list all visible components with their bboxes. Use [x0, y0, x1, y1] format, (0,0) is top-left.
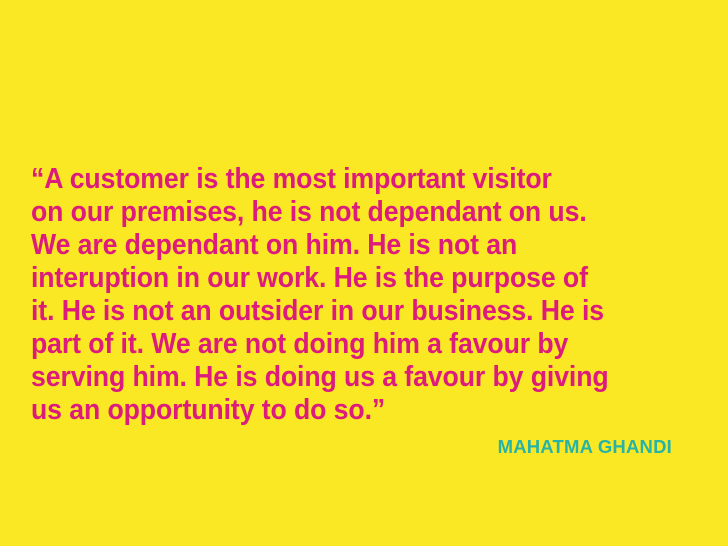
- quote-line: part of it. We are not doing him a favou…: [31, 328, 648, 361]
- quote-slide: “A customer is the most important visito…: [0, 0, 728, 546]
- quote-line: interuption in our work. He is the purpo…: [31, 262, 648, 295]
- quote-line: “A customer is the most important visito…: [31, 163, 648, 196]
- quote-line: us an opportunity to do so.”: [31, 394, 648, 427]
- quote-text-block: “A customer is the most important visito…: [31, 163, 691, 427]
- author-name: MAHATMA GHANDI: [498, 436, 672, 458]
- quote-line: We are dependant on him. He is not an: [31, 229, 648, 262]
- quote-line: on our premises, he is not dependant on …: [31, 196, 648, 229]
- quote-line: it. He is not an outsider in our busines…: [31, 295, 648, 328]
- quote-line: serving him. He is doing us a favour by …: [31, 361, 648, 394]
- quote-attribution: MAHATMA GHANDI: [31, 436, 672, 458]
